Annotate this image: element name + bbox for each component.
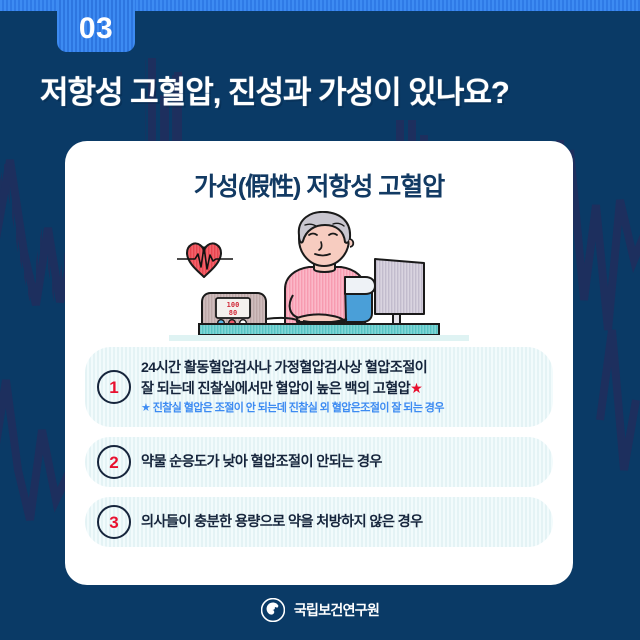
list-item: 3 의사들이 충분한 용량으로 약을 처방하지 않은 경우 — [85, 497, 553, 547]
item-number-badge: 2 — [97, 445, 131, 479]
step-number-badge: 03 — [57, 0, 135, 52]
item-footnote: ★ 진찰실 혈압은 조절이 안 되는데 진찰실 외 혈압은조절이 잘 되는 경우 — [141, 401, 539, 415]
taegeuk-government-logo-icon — [261, 598, 285, 622]
desk-monitor — [375, 259, 424, 324]
star-icon: ★ — [410, 381, 422, 397]
elderly-person — [285, 212, 375, 324]
item-text-line1: 의사들이 충분한 용량으로 약을 처방하지 않은 경우 — [141, 512, 539, 533]
item-number-badge: 3 — [97, 505, 131, 539]
card-title: 가성(假性) 저항성 고혈압 — [65, 167, 573, 203]
item-text-line1: 24시간 활동혈압검사나 가정혈압검사상 혈압조절이 — [141, 358, 539, 379]
svg-text:80: 80 — [229, 309, 237, 317]
item-text-line2: 잘 되는데 진찰실에서만 혈압이 높은 백의 고혈압★ — [141, 379, 539, 400]
item-body: 24시간 활동혈압검사나 가정혈압검사상 혈압조절이 잘 되는데 진찰실에서만 … — [141, 358, 539, 415]
elderly-patient-blood-pressure-illustration: 100 80 — [169, 211, 469, 341]
item-text-line2-main: 잘 되는데 진찰실에서만 혈압이 높은 백의 고혈압 — [141, 381, 410, 397]
list-item: 2 약물 순응도가 낮아 혈압조절이 안되는 경우 — [85, 437, 553, 487]
desk-surface — [169, 324, 469, 341]
page-title: 저항성 고혈압, 진성과 가성이 있나요? — [40, 76, 610, 110]
heart-ecg-icon — [177, 243, 233, 277]
content-card: 가성(假性) 저항성 고혈압 — [65, 141, 573, 585]
item-body: 약물 순응도가 낮아 혈압조절이 안되는 경우 — [141, 452, 539, 473]
item-number-badge: 1 — [97, 370, 131, 404]
item-body: 의사들이 충분한 용량으로 약을 처방하지 않은 경우 — [141, 512, 539, 533]
footer: 국립보건연구원 — [0, 598, 640, 622]
infographic-poster: 03 저항성 고혈압, 진성과 가성이 있나요? 가성(假性) 저항성 고혈압 — [0, 0, 640, 640]
organization-name: 국립보건연구원 — [294, 600, 379, 620]
step-number-label: 03 — [79, 8, 113, 44]
list-item: 1 24시간 활동혈압검사나 가정혈압검사상 혈압조절이 잘 되는데 진찰실에서… — [85, 347, 553, 427]
svg-text:100: 100 — [227, 301, 240, 309]
item-text-line1: 약물 순응도가 낮아 혈압조절이 안되는 경우 — [141, 452, 539, 473]
reason-list: 1 24시간 활동혈압검사나 가정혈압검사상 혈압조절이 잘 되는데 진찰실에서… — [85, 347, 553, 547]
